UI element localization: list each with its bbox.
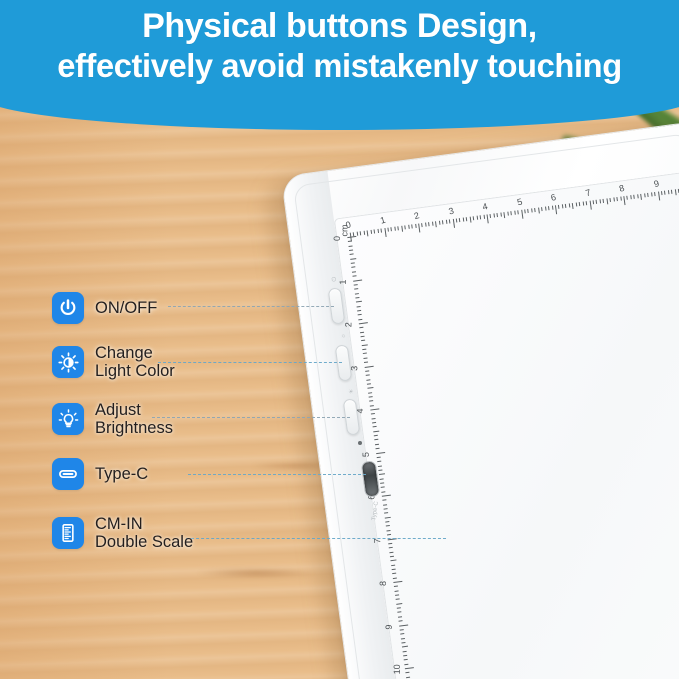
ruler-number: 9 [384,624,394,629]
ruler-unit-label: cm [339,224,349,236]
ruler-number: 10 [392,664,402,674]
sun-contrast-icon [52,346,84,378]
device-light-panel [334,168,679,679]
feature-item-brightness: Adjust Brightness [52,401,173,438]
ruler-number: 2 [343,322,353,327]
lightbulb-icon [52,403,84,435]
engraved-color-icon: ☼ [340,333,347,339]
connector-scale [186,538,446,539]
feature-label-type-c: Type-C [95,465,148,483]
led-indicator [358,441,362,445]
ruler-number: 8 [378,581,388,586]
headline-line-2: effectively avoid mistakenly touching [3,48,675,84]
engraved-power-icon: ⏻ [332,277,340,283]
led-tracing-tablet: 0123456789 012345678910 cm [281,121,679,679]
connector-type-c [188,474,366,475]
usb-c-port-icon [52,458,84,490]
feature-item-light-color: Change Light Color [52,344,175,381]
connector-power [168,306,334,307]
feature-label-brightness: Adjust Brightness [95,401,173,438]
feature-label-light-color: Change Light Color [95,344,175,381]
page-title: Physical buttons Design, effectively avo… [0,8,679,83]
feature-label-scale: CM-IN Double Scale [95,515,193,552]
ruler-number: 1 [338,279,348,284]
infographic-canvas: 0123456789 012345678910 cm ⏻ ☼ ☀ Type-C … [0,0,679,679]
headline-line-1: Physical buttons Design, [0,8,679,45]
ruler-icon [52,517,84,549]
engraved-brightness-icon: ☀ [348,388,356,394]
ruler-number: 0 [332,236,342,241]
ruler-number: 5 [361,452,371,457]
feature-label-power: ON/OFF [95,299,157,317]
feature-item-type-c: Type-C [52,458,148,490]
connector-light-color [158,362,342,363]
power-icon [52,292,84,324]
feature-item-power: ON/OFF [52,292,157,324]
feature-item-scale: CM-IN Double Scale [52,515,193,552]
connector-brightness [152,417,350,418]
